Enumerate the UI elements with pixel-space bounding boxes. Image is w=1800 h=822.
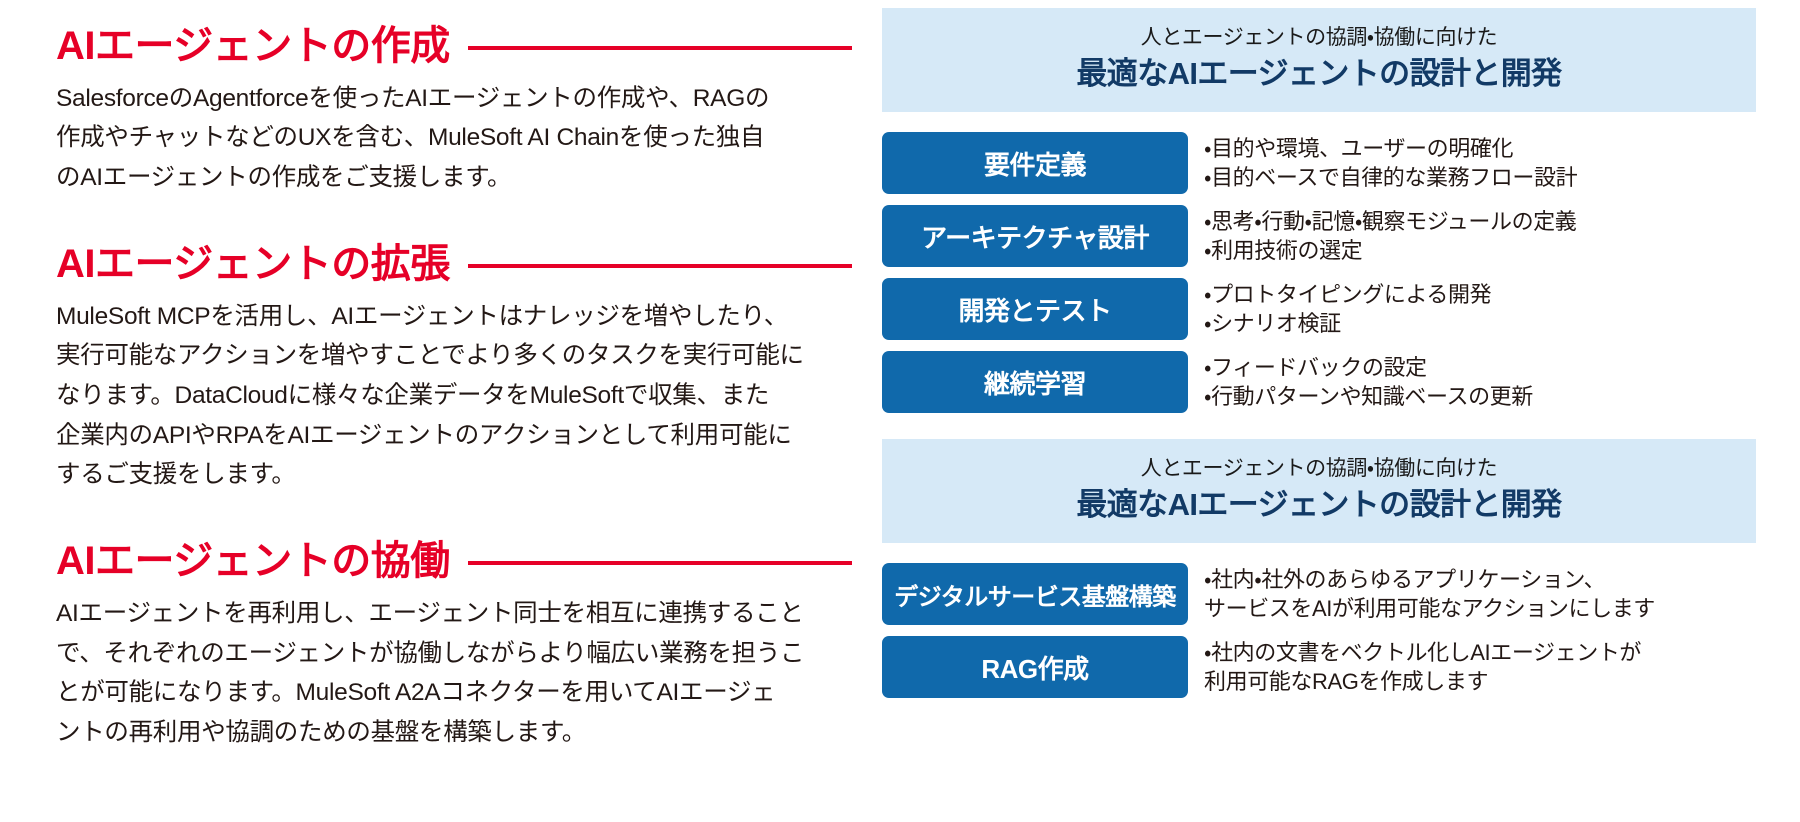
process-row-development-test: 開発とテスト ・プロトタイピングによる開発 ・シナリオ検証 (882, 278, 1756, 340)
bullet-item: ・シナリオ検証 (1204, 309, 1491, 338)
title-rule-line (468, 264, 852, 268)
section-title: AIエージェントの協働 (56, 539, 450, 584)
banner-design-development-2: 人とエージェントの協調・協働に向けた 最適なAIエージェントの設計と開発 (882, 439, 1756, 543)
body-line: とが可能になります。MuleSoft A2Aコネクターを用いてAIエージェ (56, 673, 786, 713)
body-line: SalesforceのAgentforceを使ったAIエージェントの作成や、RA… (56, 79, 786, 119)
body-line: のAIエージェントの作成をご支援します。 (56, 158, 786, 198)
process-row-architecture: アーキテクチャ設計 ・思考・行動・記憶・観察モジュールの定義 ・利用技術の選定 (882, 205, 1756, 267)
banner-title: 最適なAIエージェントの設計と開発 (892, 55, 1746, 94)
process-bullets: ・社内・社外のあらゆるアプリケーション、 サービスをAIが利用可能なアクションに… (1188, 565, 1655, 624)
section-agent-creation: AIエージェントの作成 SalesforceのAgentforceを使ったAIエ… (56, 24, 860, 198)
body-line: ントの再利用や協調のための基盤を構築します。 (56, 713, 786, 753)
title-rule-line (468, 46, 852, 50)
bullet-item: ・利用技術の選定 (1204, 236, 1576, 265)
bullet-item: ・思考・行動・記憶・観察モジュールの定義 (1204, 207, 1576, 236)
bullet-item: ・プロトタイピングによる開発 (1204, 280, 1491, 309)
process-row-digital-service-platform: デジタルサービス基盤構築 ・社内・社外のあらゆるアプリケーション、 サービスをA… (882, 563, 1756, 625)
bullet-item: ・目的や環境、ユーザーの明確化 (1204, 134, 1577, 163)
process-row-rag-creation: RAG作成 ・社内の文書をベクトル化しAIエージェントが 利用可能なRAGを作成… (882, 636, 1756, 698)
body-line: 作成やチャットなどのUXを含む、MuleSoft AI Chainを使った独自 (56, 118, 786, 158)
body-line: AIエージェントを再利用し、エージェント同士を相互に連携すること (56, 594, 786, 634)
body-line: で、それぞれのエージェントが協働しながらより幅広い業務を担うこ (56, 634, 786, 674)
process-bullets: ・思考・行動・記憶・観察モジュールの定義 ・利用技術の選定 (1188, 207, 1576, 266)
body-line: 実行可能なアクションを増やすことでより多くのタスクを実行可能に (56, 336, 786, 376)
body-line: するご支援をします。 (56, 455, 786, 495)
process-bullets: ・プロトタイピングによる開発 ・シナリオ検証 (1188, 280, 1491, 339)
process-row-requirements: 要件定義 ・目的や環境、ユーザーの明確化 ・目的ベースで自律的な業務フロー設計 (882, 132, 1756, 194)
process-chip-rag-creation[interactable]: RAG作成 (882, 636, 1188, 698)
section-body: SalesforceのAgentforceを使ったAIエージェントの作成や、RA… (56, 79, 786, 198)
bullet-item: ・社内・社外のあらゆるアプリケーション、 (1204, 565, 1655, 594)
process-chip-architecture[interactable]: アーキテクチャ設計 (882, 205, 1188, 267)
bullet-item: ・フィードバックの設定 (1204, 353, 1533, 382)
process-chip-development-test[interactable]: 開発とテスト (882, 278, 1188, 340)
banner-title: 最適なAIエージェントの設計と開発 (892, 486, 1746, 525)
section-header: AIエージェントの協働 (56, 539, 860, 584)
left-column: AIエージェントの作成 SalesforceのAgentforceを使ったAIエ… (0, 0, 860, 822)
process-chip-requirements[interactable]: 要件定義 (882, 132, 1188, 194)
process-bullets: ・社内の文書をベクトル化しAIエージェントが 利用可能なRAGを作成します (1188, 638, 1641, 697)
bullet-item: ・社内の文書をベクトル化しAIエージェントが (1204, 638, 1641, 667)
section-header: AIエージェントの作成 (56, 24, 860, 69)
right-column: 人とエージェントの協調・協働に向けた 最適なAIエージェントの設計と開発 要件定… (860, 0, 1800, 822)
section-body: AIエージェントを再利用し、エージェント同士を相互に連携すること で、それぞれの… (56, 594, 786, 753)
body-line: なります。DataCloudに様々な企業データをMuleSoftで収集、また (56, 376, 786, 416)
process-list-group-1: 要件定義 ・目的や環境、ユーザーの明確化 ・目的ベースで自律的な業務フロー設計 … (882, 132, 1756, 413)
bullet-item-continuation: サービスをAIが利用可能なアクションにします (1204, 594, 1655, 623)
section-agent-extension: AIエージェントの拡張 MuleSoft MCPを活用し、AIエージェントはナレ… (56, 242, 860, 495)
body-line: 企業内のAPIやRPAをAIエージェントのアクションとして利用可能に (56, 416, 786, 456)
banner-subtitle: 人とエージェントの協調・協働に向けた (892, 24, 1746, 51)
section-header: AIエージェントの拡張 (56, 242, 860, 287)
process-bullets: ・目的や環境、ユーザーの明確化 ・目的ベースで自律的な業務フロー設計 (1188, 134, 1577, 193)
slide-root: AIエージェントの作成 SalesforceのAgentforceを使ったAIエ… (0, 0, 1800, 822)
section-title: AIエージェントの作成 (56, 24, 450, 69)
process-row-continuous-learning: 継続学習 ・フィードバックの設定 ・行動パターンや知識ベースの更新 (882, 351, 1756, 413)
group-spacer (882, 413, 1756, 439)
bullet-item-continuation: 利用可能なRAGを作成します (1204, 667, 1641, 696)
section-agent-collaboration: AIエージェントの協働 AIエージェントを再利用し、エージェント同士を相互に連携… (56, 539, 860, 753)
process-chip-digital-service-platform[interactable]: デジタルサービス基盤構築 (882, 563, 1188, 625)
body-line: MuleSoft MCPを活用し、AIエージェントはナレッジを増やしたり、 (56, 297, 786, 337)
section-title: AIエージェントの拡張 (56, 242, 450, 287)
bullet-item: ・目的ベースで自律的な業務フロー設計 (1204, 163, 1577, 192)
process-list-group-2: デジタルサービス基盤構築 ・社内・社外のあらゆるアプリケーション、 サービスをA… (882, 563, 1756, 698)
banner-subtitle: 人とエージェントの協調・協働に向けた (892, 455, 1746, 482)
bullet-item: ・行動パターンや知識ベースの更新 (1204, 382, 1533, 411)
banner-design-development-1: 人とエージェントの協調・協働に向けた 最適なAIエージェントの設計と開発 (882, 8, 1756, 112)
section-body: MuleSoft MCPを活用し、AIエージェントはナレッジを増やしたり、 実行… (56, 297, 786, 495)
title-rule-line (468, 561, 852, 565)
process-chip-continuous-learning[interactable]: 継続学習 (882, 351, 1188, 413)
process-bullets: ・フィードバックの設定 ・行動パターンや知識ベースの更新 (1188, 353, 1533, 412)
